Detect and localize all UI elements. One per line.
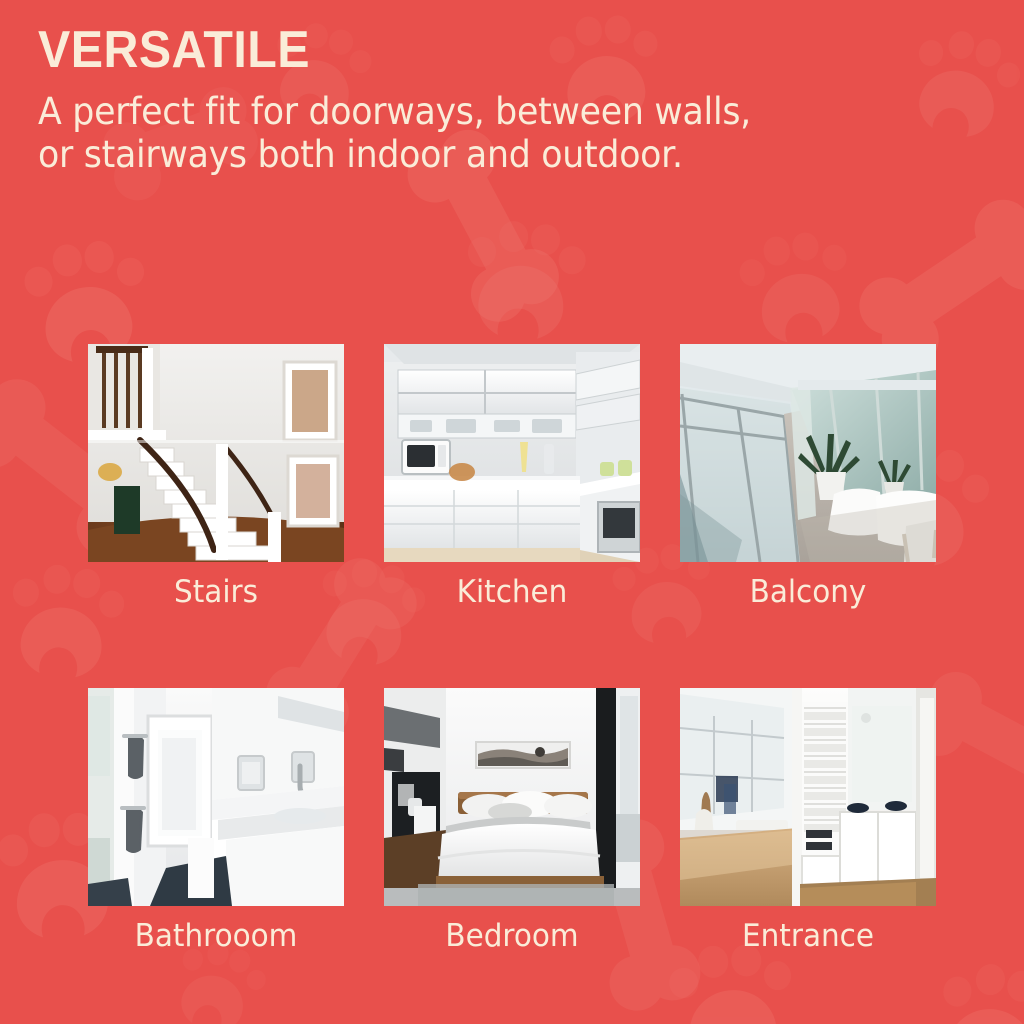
bone-knob-4 [1015,754,1024,824]
paw-pad [476,263,566,343]
paw-pad [943,1003,1024,1024]
paw-toe-1 [23,265,55,299]
gallery-row-1: Stairs [88,344,936,610]
paw-print-icon [733,218,864,359]
stairs-photo [88,344,344,562]
paw-toe-4 [994,60,1023,90]
page-subtitle: A perfect fit for doorways, between wall… [38,90,931,177]
bone-shaft [876,217,1024,343]
subtitle-line-1: A perfect fit for doorways, between wall… [38,90,931,133]
gallery-cell-balcony[interactable]: Balcony [680,344,936,610]
gallery-cell-bathroom[interactable]: Bathrooom [88,688,344,954]
paw-toe-4 [244,967,268,992]
bone-knob-4 [603,950,670,1017]
gallery-row-2: Bathrooom [88,688,936,954]
paw-toe-1 [941,974,973,1008]
paw-toe-2 [498,220,529,253]
paw-toe-3 [1005,969,1024,1005]
gallery-label-kitchen: Kitchen [390,574,633,610]
paw-toe-3 [933,448,966,483]
gallery-label-entrance: Entrance [686,918,929,954]
paw-toe-1 [467,236,497,268]
paw-toe-1 [668,966,700,1000]
paw-toe-1 [0,834,29,868]
paw-toe-4 [115,256,146,288]
bone-knob-1 [0,368,57,448]
paw-pad [685,986,780,1024]
page-title: VERSATILE [38,24,922,76]
gallery-label-stairs: Stairs [94,574,337,610]
bone-knob-3 [964,189,1024,268]
photo-gallery-grid: Stairs [88,344,936,954]
kitchen-photo [384,344,640,562]
paw-toe-4 [558,245,586,275]
paw-toe-2 [974,962,1008,998]
gallery-label-bedroom: Bedroom [390,918,633,954]
paw-toe-3 [530,224,561,257]
paw-pad-notch [40,903,86,954]
gallery-label-balcony: Balcony [686,574,929,610]
bone-shaft [932,688,1024,792]
balcony-photo [680,344,936,562]
bone-knob-2 [0,399,33,479]
paw-toe-3 [789,230,821,263]
bone-knob-1 [848,266,927,345]
paw-print-icon [462,212,589,352]
paw-toe-4 [762,960,792,992]
bathroom-photo [88,688,344,906]
bone-knob-4 [986,221,1024,300]
bone-knob-4 [461,258,535,332]
gallery-cell-kitchen[interactable]: Kitchen [384,344,640,610]
entrance-photo [680,688,936,906]
paw-toe-2 [42,563,72,595]
paw-pad [176,968,250,1024]
paw-toe-1 [12,577,41,608]
paw-toe-2 [50,243,83,278]
gallery-cell-entrance[interactable]: Entrance [680,688,936,954]
paw-pad [755,267,845,349]
paw-print-icon [927,951,1024,1024]
paw-toe-1 [737,257,767,289]
header-block: VERSATILE A perfect fit for doorways, be… [38,24,988,177]
paw-pad-notch [188,1002,225,1024]
paw-toe-3 [83,239,116,274]
gallery-cell-bedroom[interactable]: Bedroom [384,688,640,954]
bedroom-photo [384,688,640,906]
bone-knob-3 [495,240,569,314]
gallery-cell-stairs[interactable]: Stairs [88,344,344,610]
paw-toe-4 [820,242,849,272]
paw-toe-4 [960,473,991,505]
infographic-canvas: VERSATILE A perfect fit for doorways, be… [0,0,1024,1024]
paw-pad-notch [37,645,79,691]
paw-toe-2 [28,813,61,848]
subtitle-line-2: or stairways both indoor and outdoor. [38,133,931,176]
gallery-label-bathroom: Bathrooom [94,918,337,954]
paw-toe-2 [761,235,793,268]
